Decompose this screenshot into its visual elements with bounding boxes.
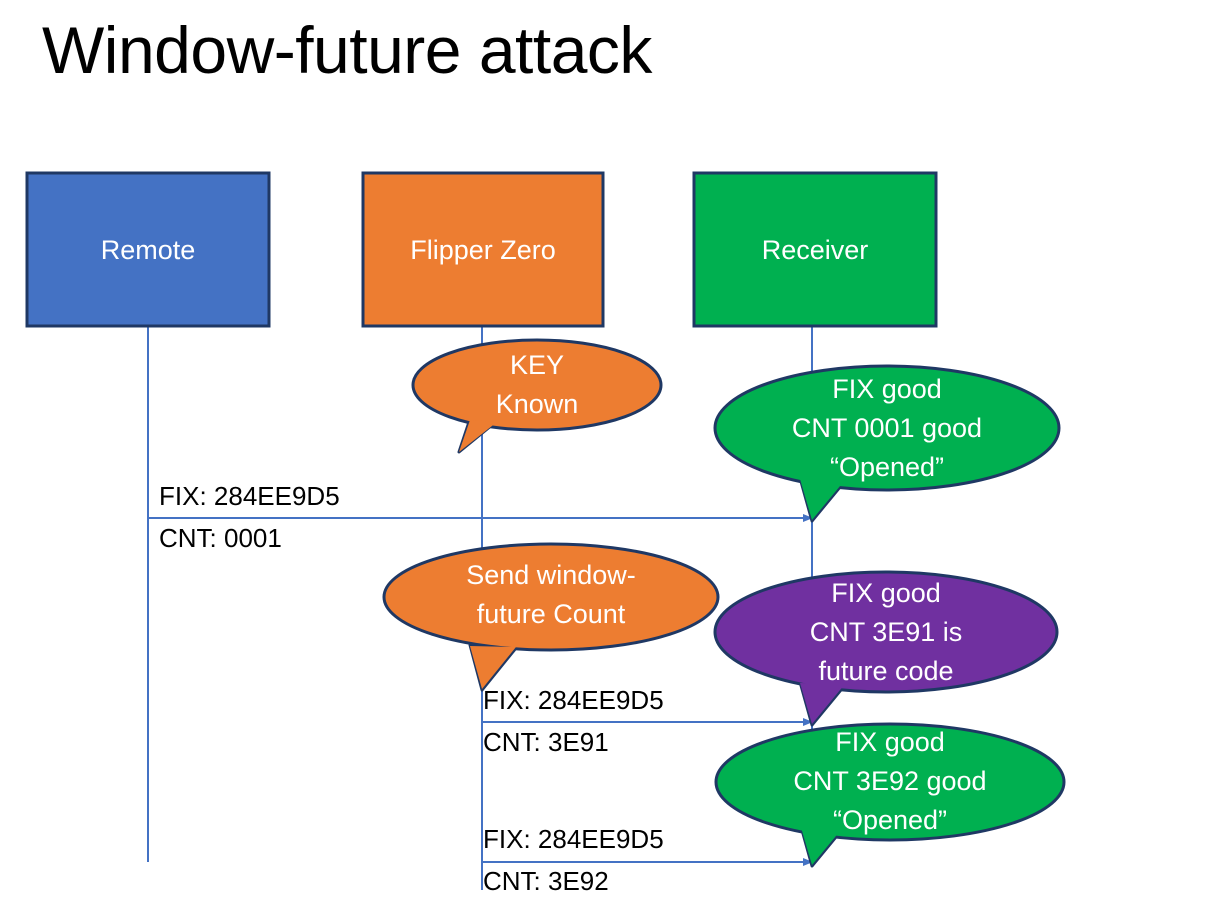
callout-label-fix-good-3e91-line3: future code <box>715 652 1057 691</box>
callout-label-key-known-line1: KEY <box>413 346 661 385</box>
page-title: Window-future attack <box>42 8 652 92</box>
actor-label-receiver: Receiver <box>694 234 936 266</box>
message-1-fix-label: FIX: 284EE9D5 <box>159 480 340 512</box>
callout-label-send-window-future-line2: future Count <box>384 595 718 634</box>
actor-label-flipper: Flipper Zero <box>363 234 603 266</box>
message-2-cnt-label: CNT: 3E91 <box>483 726 609 758</box>
callout-label-fix-good-0001-line2: CNT 0001 good <box>715 409 1059 448</box>
callout-label-fix-good-3e92-line2: CNT 3E92 good <box>717 762 1063 801</box>
callout-label-fix-good-3e91-line1: FIX good <box>715 574 1057 613</box>
callout-label-fix-good-3e91-line2: CNT 3E91 is <box>715 613 1057 652</box>
slide-canvas: Window-future attack Remote Flipper Zero… <box>0 0 1216 898</box>
message-2-fix-label: FIX: 284EE9D5 <box>483 684 664 716</box>
message-1-cnt-label: CNT: 0001 <box>159 522 282 554</box>
callout-label-fix-good-0001-line3: “Opened” <box>715 448 1059 487</box>
callout-label-fix-good-3e92-line3: “Opened” <box>717 801 1063 840</box>
message-3-cnt-label: CNT: 3E92 <box>483 865 609 897</box>
callout-label-send-window-future-line1: Send window- <box>384 556 718 595</box>
callout-label-fix-good-0001-line1: FIX good <box>715 370 1059 409</box>
actor-label-remote: Remote <box>27 234 269 266</box>
callout-label-fix-good-3e92-line1: FIX good <box>717 723 1063 762</box>
message-3-fix-label: FIX: 284EE9D5 <box>483 823 664 855</box>
callout-label-key-known-line2: Known <box>413 385 661 424</box>
